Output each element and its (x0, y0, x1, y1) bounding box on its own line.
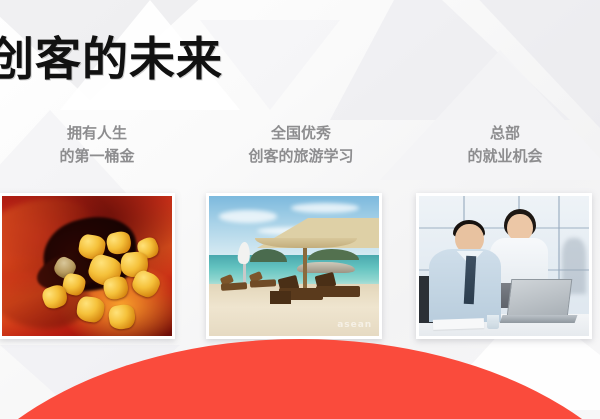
side-table (270, 291, 290, 304)
column-caption-2: 全国优秀 创客的旅游学习 (208, 122, 394, 167)
photo-card-2: asean (206, 193, 382, 339)
office-business-photo (419, 196, 589, 336)
cloud (291, 203, 359, 213)
caption-line-2: 的第一桶金 (4, 145, 190, 168)
background-facet (330, 0, 570, 120)
photo-card-3 (416, 193, 592, 339)
caption-line-1: 拥有人生 (4, 122, 190, 145)
caption-line-1: 总部 (412, 122, 598, 145)
gold-nugget (107, 303, 136, 331)
slide-title: 创客的未来 (0, 36, 223, 82)
lounge-chair (250, 279, 276, 287)
lounge-chair (316, 286, 360, 297)
tropical-beach-photo: asean (209, 196, 379, 336)
lounge-chair (221, 282, 247, 291)
laptop-base (499, 315, 577, 323)
caption-line-1: 全国优秀 (208, 122, 394, 145)
column-caption-3: 总部 的就业机会 (412, 122, 598, 167)
glass-cup (487, 315, 499, 329)
laptop-screen (507, 279, 573, 317)
caption-line-2: 创客的旅游学习 (208, 145, 394, 168)
paper-documents (432, 318, 483, 330)
gold-nugget (76, 295, 106, 323)
watermark: asean (337, 320, 372, 330)
gold-nuggets-photo (2, 196, 172, 336)
caption-line-2: 的就业机会 (412, 145, 598, 168)
red-footer-arc (0, 339, 600, 419)
slide-canvas: 创客的未来 拥有人生 的第一桶金 全国优秀 创客的旅游学习 总部 的就业机会 (0, 0, 600, 419)
column-caption-1: 拥有人生 的第一桶金 (4, 122, 190, 167)
woman-head (507, 214, 533, 241)
photo-card-1 (0, 193, 175, 339)
